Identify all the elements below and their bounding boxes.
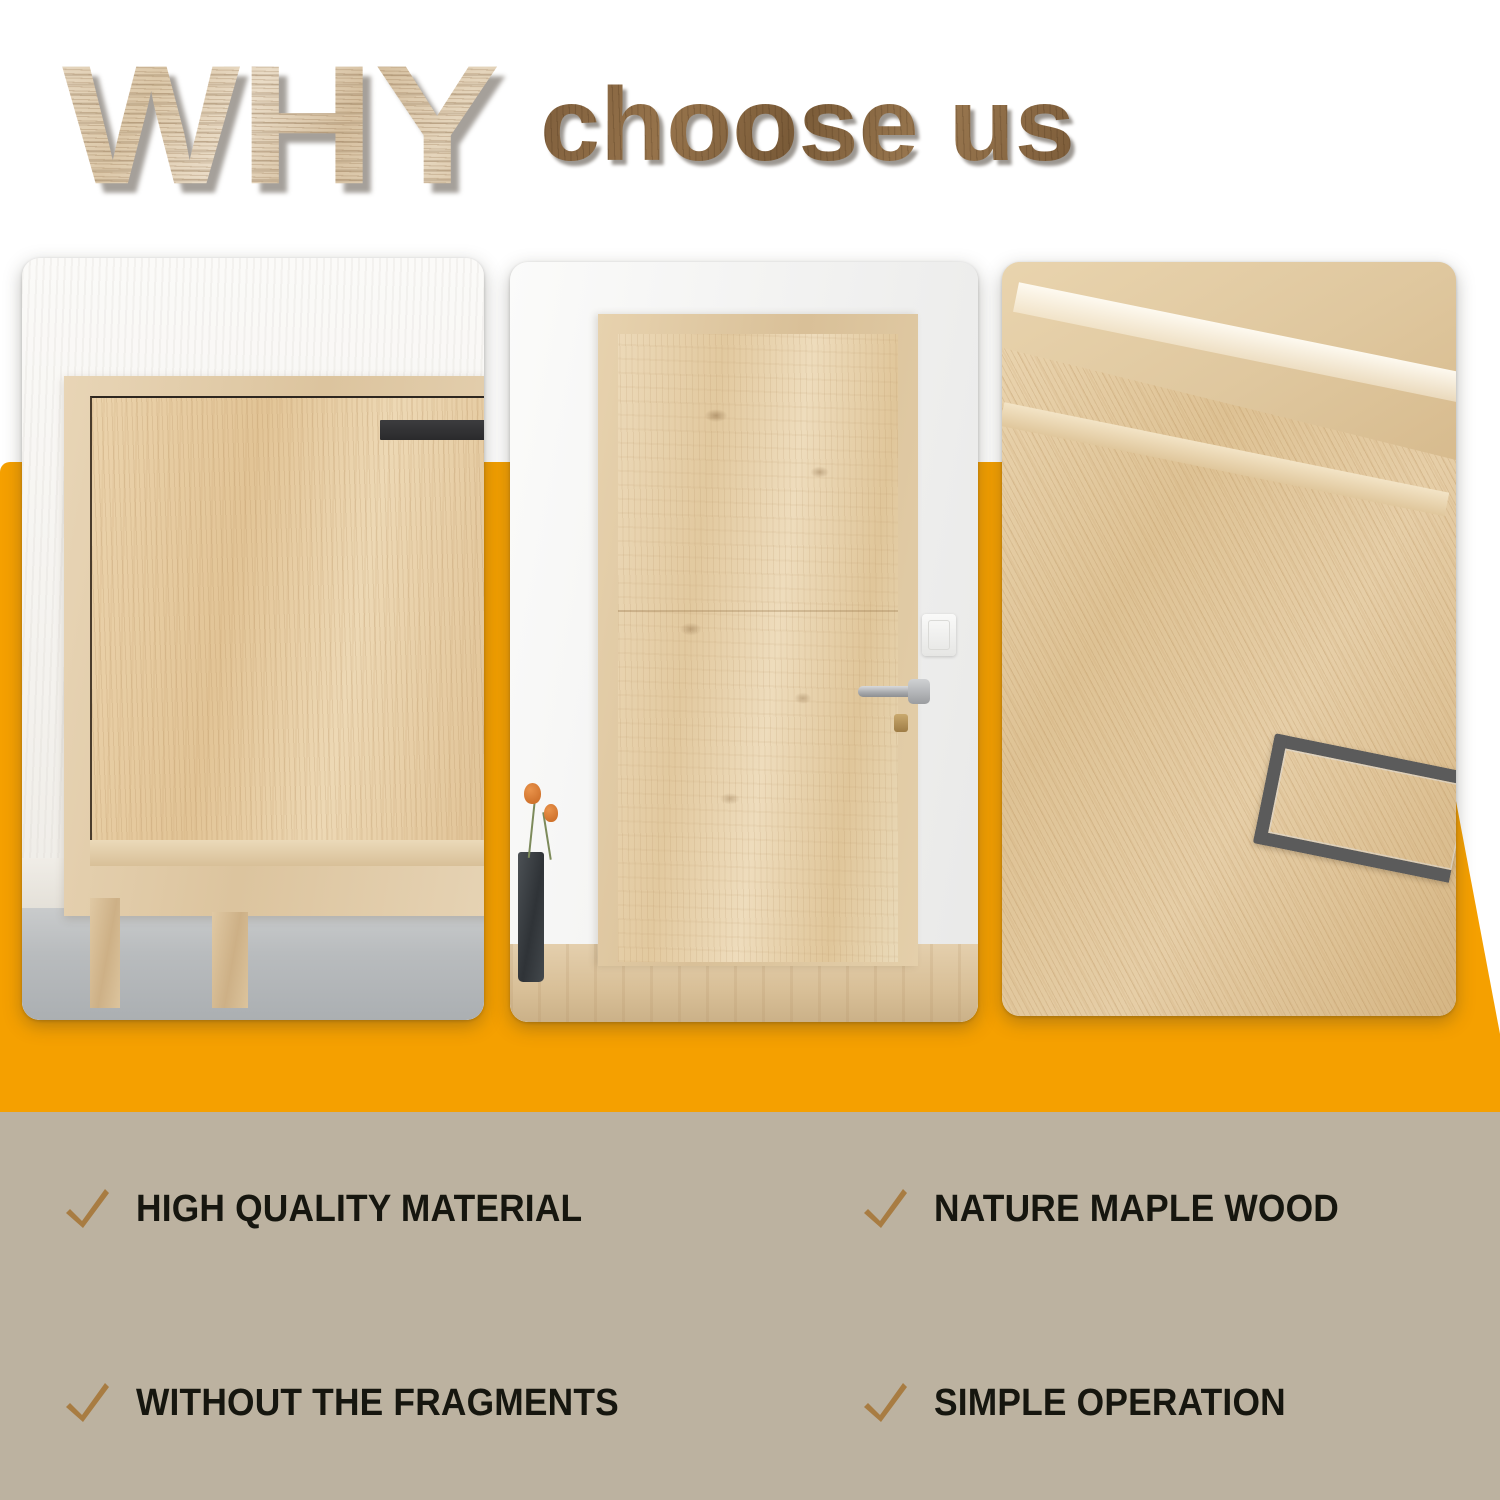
- cabinet-frame: [64, 376, 484, 916]
- cabinet-leg-right: [212, 912, 248, 1008]
- feature-item-high-quality-material: HIGH QUALITY MATERIAL: [0, 1183, 820, 1235]
- check-icon: [860, 1183, 912, 1235]
- feature-label: NATURE MAPLE WOOD: [934, 1188, 1339, 1231]
- cabinet-bottom-rail: [90, 840, 484, 866]
- detail-panel: [1002, 262, 1456, 1016]
- door-frame: [598, 314, 918, 966]
- cabinet-bar-handle: [380, 420, 484, 440]
- check-icon: [62, 1377, 114, 1429]
- cabinet-leg-left: [90, 898, 120, 1008]
- check-icon: [62, 1183, 114, 1235]
- floor-vase: [518, 852, 544, 982]
- feature-label: SIMPLE OPERATION: [934, 1382, 1286, 1425]
- door-lever-handle: [858, 686, 926, 697]
- cabinet-door-panel: [90, 396, 484, 854]
- feature-item-simple-operation: SIMPLE OPERATION: [820, 1377, 1500, 1429]
- feature-label: WITHOUT THE FRAGMENTS: [136, 1382, 619, 1425]
- flower-bloom: [544, 804, 558, 822]
- flower-bloom: [524, 783, 541, 804]
- feature-label: HIGH QUALITY MATERIAL: [136, 1188, 582, 1231]
- wood-detail-scene: [1002, 262, 1456, 1016]
- door-panel: [510, 262, 978, 1022]
- check-icon: [860, 1377, 912, 1429]
- door-leaf: [618, 334, 898, 962]
- heading-word-why: WHY: [62, 40, 499, 210]
- cabinet-panel: [22, 258, 484, 1020]
- cabinet-scene: [22, 258, 484, 1020]
- light-switch: [922, 614, 956, 656]
- page-heading: WHY choose us: [0, 0, 1500, 250]
- feature-item-nature-maple-wood: NATURE MAPLE WOOD: [820, 1183, 1500, 1235]
- door-scene: [510, 262, 978, 1022]
- feature-item-without-the-fragments: WITHOUT THE FRAGMENTS: [0, 1377, 820, 1429]
- door-keyhole: [894, 714, 908, 732]
- features-list: HIGH QUALITY MATERIAL NATURE MAPLE WOOD …: [0, 1112, 1500, 1500]
- heading-word-choose-us: choose us: [540, 73, 1075, 177]
